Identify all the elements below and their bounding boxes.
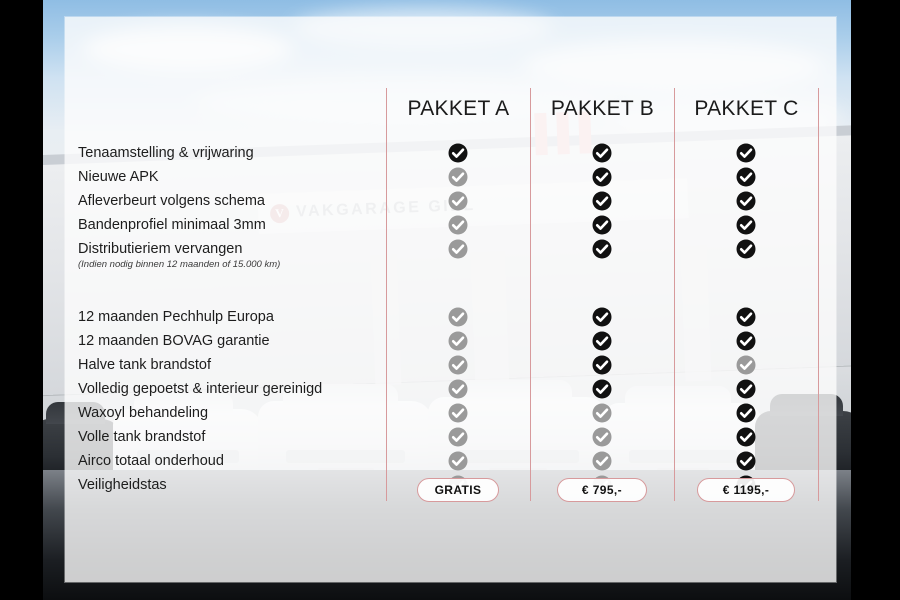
check-a-nieuwe-apk [448, 167, 468, 187]
feature-label-volledig-gepoetst-and-interieur-gereinigd: Volledig gepoetst & interieur gereinigd [78, 381, 322, 397]
check-c-halve-tank-brandstof [736, 355, 756, 375]
check-a-bandenprofiel-minimaal-3mm [448, 215, 468, 235]
package-comparison-card: PAKKET APAKKET BPAKKET CTenaamstelling &… [65, 17, 836, 582]
price-badge-a[interactable]: GRATIS [417, 478, 499, 502]
check-b-airco-totaal-onderhoud [592, 451, 612, 471]
slide-root: V VAKGARAGE GIEL PAKKET APAKKET BPAKKET … [0, 0, 900, 600]
check-a-waxoyl-behandeling [448, 403, 468, 423]
check-b-bandenprofiel-minimaal-3mm [592, 215, 612, 235]
feature-label-afleverbeurt-volgens-schema: Afleverbeurt volgens schema [78, 193, 265, 209]
check-c-12-maanden-pechhulp-europa [736, 307, 756, 327]
check-a-airco-totaal-onderhoud [448, 451, 468, 471]
check-b-12-maanden-pechhulp-europa [592, 307, 612, 327]
package-comparison-grid: PAKKET APAKKET BPAKKET CTenaamstelling &… [65, 17, 836, 582]
feature-label-12-maanden-bovag-garantie: 12 maanden BOVAG garantie [78, 333, 270, 349]
feature-note-distributieriem-vervangen: (Indien nodig binnen 12 maanden of 15.00… [78, 259, 280, 270]
feature-label-volle-tank-brandstof: Volle tank brandstof [78, 429, 205, 445]
column-header-c: PAKKET C [675, 88, 818, 130]
column-divider-1 [386, 88, 387, 501]
column-divider-3 [674, 88, 675, 501]
check-a-halve-tank-brandstof [448, 355, 468, 375]
column-divider-2 [530, 88, 531, 501]
feature-label-bandenprofiel-minimaal-3mm: Bandenprofiel minimaal 3mm [78, 217, 266, 233]
feature-label-veiligheidstas: Veiligheidstas [78, 477, 167, 493]
check-b-waxoyl-behandeling [592, 403, 612, 423]
feature-label-12-maanden-pechhulp-europa: 12 maanden Pechhulp Europa [78, 309, 274, 325]
feature-label-airco-totaal-onderhoud: Airco totaal onderhoud [78, 453, 224, 469]
check-a-tenaamstelling-and-vrijwaring [448, 143, 468, 163]
check-b-halve-tank-brandstof [592, 355, 612, 375]
check-b-12-maanden-bovag-garantie [592, 331, 612, 351]
check-b-afleverbeurt-volgens-schema [592, 191, 612, 211]
price-badge-b[interactable]: € 795,- [557, 478, 647, 502]
check-c-airco-totaal-onderhoud [736, 451, 756, 471]
check-c-volledig-gepoetst-and-interieur-gereinigd [736, 379, 756, 399]
column-header-b: PAKKET B [531, 88, 674, 130]
feature-label-waxoyl-behandeling: Waxoyl behandeling [78, 405, 208, 421]
check-a-afleverbeurt-volgens-schema [448, 191, 468, 211]
column-header-a: PAKKET A [387, 88, 530, 130]
check-b-tenaamstelling-and-vrijwaring [592, 143, 612, 163]
check-c-waxoyl-behandeling [736, 403, 756, 423]
check-b-volle-tank-brandstof [592, 427, 612, 447]
feature-label-halve-tank-brandstof: Halve tank brandstof [78, 357, 211, 373]
check-a-volle-tank-brandstof [448, 427, 468, 447]
feature-label-nieuwe-apk: Nieuwe APK [78, 169, 159, 185]
price-badge-c[interactable]: € 1195,- [697, 478, 795, 502]
check-a-volledig-gepoetst-and-interieur-gereinigd [448, 379, 468, 399]
check-c-nieuwe-apk [736, 167, 756, 187]
check-c-bandenprofiel-minimaal-3mm [736, 215, 756, 235]
check-c-volle-tank-brandstof [736, 427, 756, 447]
check-b-distributieriem-vervangen [592, 239, 612, 259]
check-a-12-maanden-pechhulp-europa [448, 307, 468, 327]
check-a-12-maanden-bovag-garantie [448, 331, 468, 351]
feature-label-tenaamstelling-and-vrijwaring: Tenaamstelling & vrijwaring [78, 145, 254, 161]
column-divider-4 [818, 88, 819, 501]
check-c-tenaamstelling-and-vrijwaring [736, 143, 756, 163]
check-a-distributieriem-vervangen [448, 239, 468, 259]
check-b-volledig-gepoetst-and-interieur-gereinigd [592, 379, 612, 399]
check-c-distributieriem-vervangen [736, 239, 756, 259]
feature-label-distributieriem-vervangen: Distributieriem vervangen [78, 241, 242, 257]
check-b-nieuwe-apk [592, 167, 612, 187]
check-c-afleverbeurt-volgens-schema [736, 191, 756, 211]
check-c-12-maanden-bovag-garantie [736, 331, 756, 351]
